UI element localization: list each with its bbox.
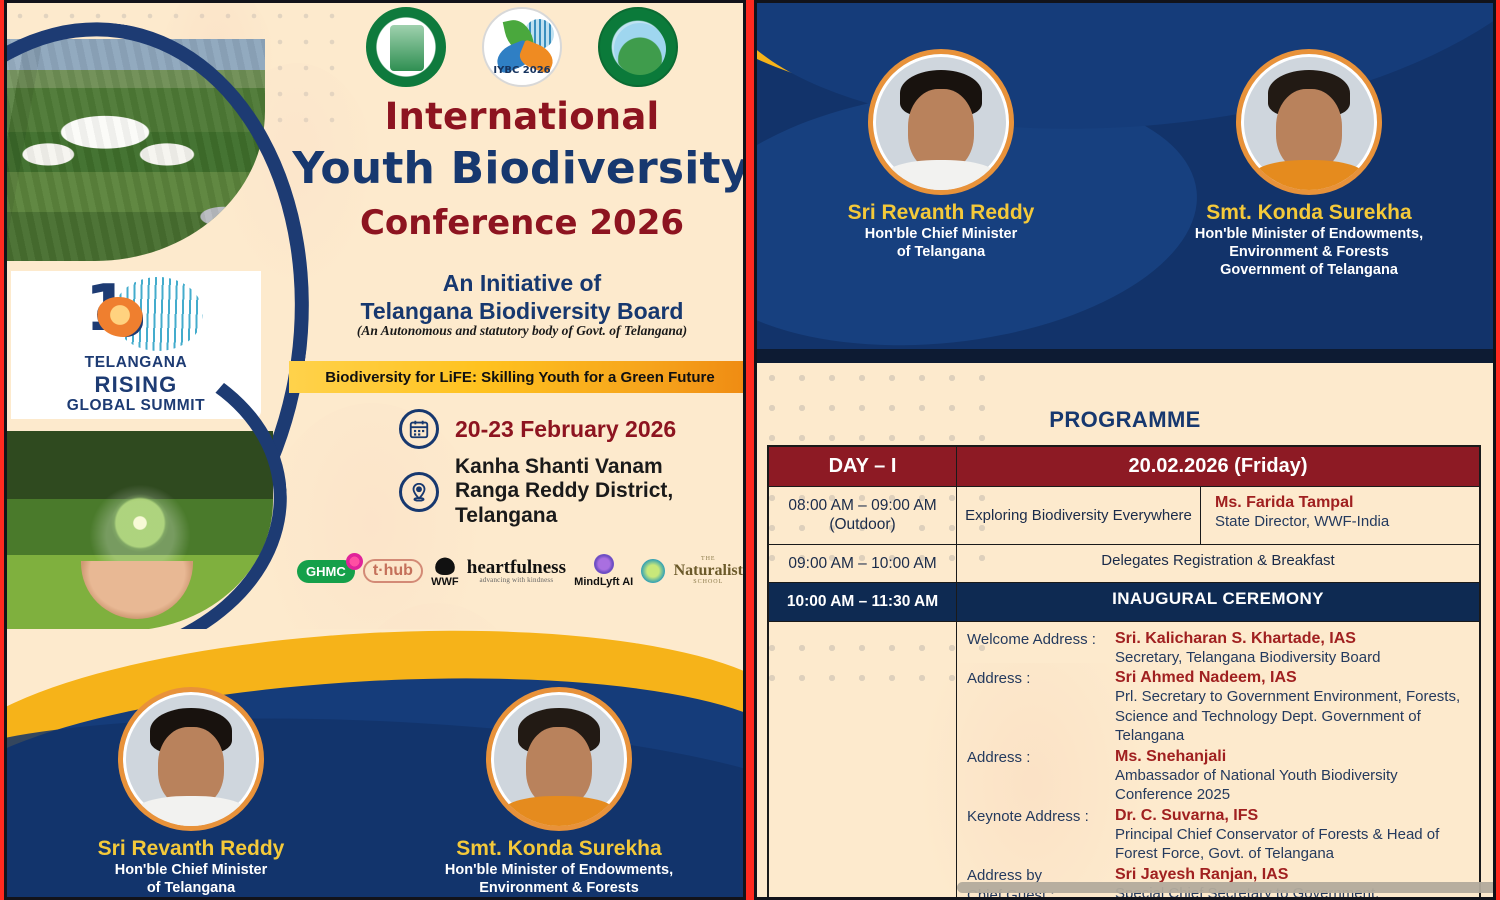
ceremony-item: Address : Ms. Snehanjali Ambassador of N… (967, 748, 1469, 805)
ceremony-label: Welcome Address : (967, 630, 1105, 668)
ceremony-details: Welcome Address : Sri. Kalicharan S. Kha… (957, 622, 1479, 898)
leaders-row: Sri Revanth Reddy Hon'ble Chief Minister… (757, 49, 1493, 329)
table-row: 08:00 AM – 09:00 AM(Outdoor) Exploring B… (769, 487, 1479, 545)
emblem-row: IYBC 2026 (307, 5, 737, 89)
venue-line3: Telangana (455, 504, 557, 527)
event-venue-row: Kanha Shanti Vanam Ranga Reddy District,… (399, 455, 673, 528)
horizontal-scrollbar-thumb[interactable] (957, 882, 1493, 893)
ceremony-value: Sri Ahmed Nadeem, IAS Prl. Secretary to … (1115, 669, 1469, 746)
leader-card: Smt. Konda Surekha Hon'ble Minister of E… (1125, 49, 1493, 329)
leaders-row: Sri Revanth Reddy Hon'ble Chief Minister… (7, 635, 743, 897)
leader-card: Sri Revanth Reddy Hon'ble Chief Minister… (757, 49, 1125, 329)
ceremony-label: Address : (967, 748, 1105, 805)
naturalist-school: SCHOOL (674, 579, 743, 585)
leader-name: Sri Revanth Reddy (848, 201, 1035, 225)
ceremony-person: Sri Ahmed Nadeem, IAS (1115, 669, 1469, 687)
speaker-role: State Director, WWF-India (1215, 512, 1471, 532)
ceremony-detail: Prl. Secretary to Government Environment… (1115, 687, 1469, 746)
leader-role: Hon'ble Chief Ministerof Telangana (115, 861, 267, 897)
initiative-line1: An Initiative of (307, 269, 737, 297)
venue-line1: Kanha Shanti Vanam (455, 455, 663, 478)
avatar (486, 687, 632, 831)
row-time: 08:00 AM – 09:00 AM(Outdoor) (769, 487, 957, 544)
leader-name: Smt. Konda Surekha (456, 837, 661, 861)
heartfulness-logo: heartfulness advancing with kindness (467, 558, 566, 584)
burst-icon (594, 554, 614, 574)
programme-table: DAY – I 20.02.2026 (Friday) 08:00 AM – 0… (767, 445, 1481, 897)
programme-heading: PROGRAMME (757, 407, 1493, 433)
ceremony-item: Keynote Address : Dr. C. Suvarna, IFS Pr… (967, 807, 1469, 864)
leader-name: Sri Revanth Reddy (98, 837, 285, 861)
avatar (868, 49, 1014, 195)
network-icon (641, 559, 665, 583)
ceremony-item: Address : Sri Ahmed Nadeem, IAS Prl. Sec… (967, 669, 1469, 746)
indian-youth-biodiversity-network-logo: Indian Youth Biodiversity Network (641, 559, 665, 584)
telangana-biodiversity-board-logo (598, 7, 678, 87)
row-time: 10:00 AM – 11:30 AM (769, 583, 957, 620)
row-activity: Delegates Registration & Breakfast (957, 545, 1479, 582)
title-line-conference-2026: Conference 2026 (307, 203, 737, 243)
row-speaker: Ms. Farida Tampal State Director, WWF-In… (1201, 487, 1479, 544)
title-line-international: International (307, 95, 737, 138)
table-row-ceremony: Welcome Address : Sri. Kalicharan S. Kha… (769, 622, 1479, 898)
ceremony-detail: Principal Chief Conservator of Forests &… (1115, 825, 1469, 864)
header-day: DAY – I (769, 447, 957, 486)
ceremony-item: Welcome Address : Sri. Kalicharan S. Kha… (967, 630, 1469, 668)
the-naturalist-school-logo: THE Naturalist SCHOOL (674, 556, 743, 585)
leader-role: Hon'ble Chief Ministerof Telangana (865, 225, 1017, 261)
table-row: 09:00 AM – 10:00 AM Delegates Registrati… (769, 545, 1479, 583)
autonomous-body-note: (An Autonomous and statutory body of Gov… (307, 323, 737, 339)
government-of-telangana-emblem (366, 7, 446, 87)
programme-section: PROGRAMME DAY – I 20.02.2026 (Friday) 08… (757, 363, 1493, 897)
leader-role: Hon'ble Minister of Endowments,Environme… (445, 861, 673, 897)
location-pin-icon (399, 472, 439, 512)
ghmc-logo: GHMC (297, 560, 355, 583)
mindlyft-ai-logo: MindLyft AI (574, 554, 633, 588)
partner-logo-row: GHMC t·hub WWF heartfulness advancing wi… (297, 549, 743, 593)
ceremony-detail: Secretary, Telangana Biodiversity Board (1115, 648, 1469, 668)
avatar (1236, 49, 1382, 195)
initiative-line2: Telangana Biodiversity Board (307, 297, 737, 325)
ceremony-person: Sri. Kalicharan S. Khartade, IAS (1115, 630, 1469, 648)
calendar-icon (399, 409, 439, 449)
table-header-row: DAY – I 20.02.2026 (Friday) (769, 447, 1479, 487)
wwf-logo: WWF (431, 555, 458, 588)
initiative-block: An Initiative of Telangana Biodiversity … (307, 269, 737, 325)
leader-role: Hon'ble Minister of Endowments,Environme… (1195, 225, 1423, 279)
header-divider-strip (757, 349, 1493, 363)
theme-banner: Biodiversity for LiFE: Skilling Youth fo… (289, 361, 746, 393)
event-venue: Kanha Shanti Vanam Ranga Reddy District,… (455, 455, 673, 528)
ceremony-value: Ms. Snehanjali Ambassador of National Yo… (1115, 748, 1469, 805)
theme-text: Biodiversity for LiFE: Skilling Youth fo… (325, 369, 715, 386)
poster-imagery-column: 1 TELANGANA RISING GLOBAL SUMMIT (7, 39, 307, 619)
ceremony-time-spacer (769, 622, 957, 898)
ceremony-person: Ms. Snehanjali (1115, 748, 1469, 766)
leader-name: Smt. Konda Surekha (1206, 201, 1411, 225)
avatar (118, 687, 264, 831)
heartfulness-label: heartfulness (467, 557, 566, 578)
header-date: 20.02.2026 (Friday) (957, 447, 1479, 486)
venue-line2: Ranga Reddy District, (455, 479, 673, 502)
document-viewer: 1 TELANGANA RISING GLOBAL SUMMIT IY (0, 0, 1500, 900)
event-date: 20-23 February 2026 (455, 416, 676, 443)
ceremony-person: Dr. C. Suvarna, IFS (1115, 807, 1469, 825)
ceremony-label: Address : (967, 669, 1105, 746)
ceremony-label: Keynote Address : (967, 807, 1105, 864)
poster-page-1[interactable]: 1 TELANGANA RISING GLOBAL SUMMIT IY (4, 0, 746, 900)
title-line-youth-biodiversity: Youth Biodiversity (291, 143, 746, 194)
ceremony-value: Dr. C. Suvarna, IFS Principal Chief Cons… (1115, 807, 1469, 864)
poster-page-2[interactable]: Sri Revanth Reddy Hon'ble Chief Minister… (754, 0, 1496, 900)
event-date-row: 20-23 February 2026 (399, 409, 676, 449)
t-hub-logo: t·hub (363, 559, 423, 583)
iybc-logo-caption: IYBC 2026 (484, 65, 560, 76)
speaker-name: Ms. Farida Tampal (1215, 494, 1471, 512)
row-activity: Exploring Biodiversity Everywhere (957, 487, 1201, 544)
table-row-inaugural-banner: 10:00 AM – 11:30 AM INAUGURAL CEREMONY (769, 583, 1479, 621)
heartfulness-tagline: advancing with kindness (467, 577, 566, 584)
leader-card: Sri Revanth Reddy Hon'ble Chief Minister… (7, 635, 375, 897)
naturalist-label: Naturalist (674, 562, 743, 579)
ceremony-detail: Ambassador of National Youth Biodiversit… (1115, 766, 1469, 805)
ceremony-value: Sri. Kalicharan S. Khartade, IAS Secreta… (1115, 630, 1469, 668)
row-time: 09:00 AM – 10:00 AM (769, 545, 957, 582)
ceremony-person: Sri Jayesh Ranjan, IAS (1115, 866, 1469, 884)
row-activity: INAUGURAL CEREMONY (957, 583, 1479, 620)
iybc-2026-logo: IYBC 2026 (482, 7, 562, 87)
panda-icon (434, 555, 456, 575)
leader-card: Smt. Konda Surekha Hon'ble Minister of E… (375, 635, 743, 897)
